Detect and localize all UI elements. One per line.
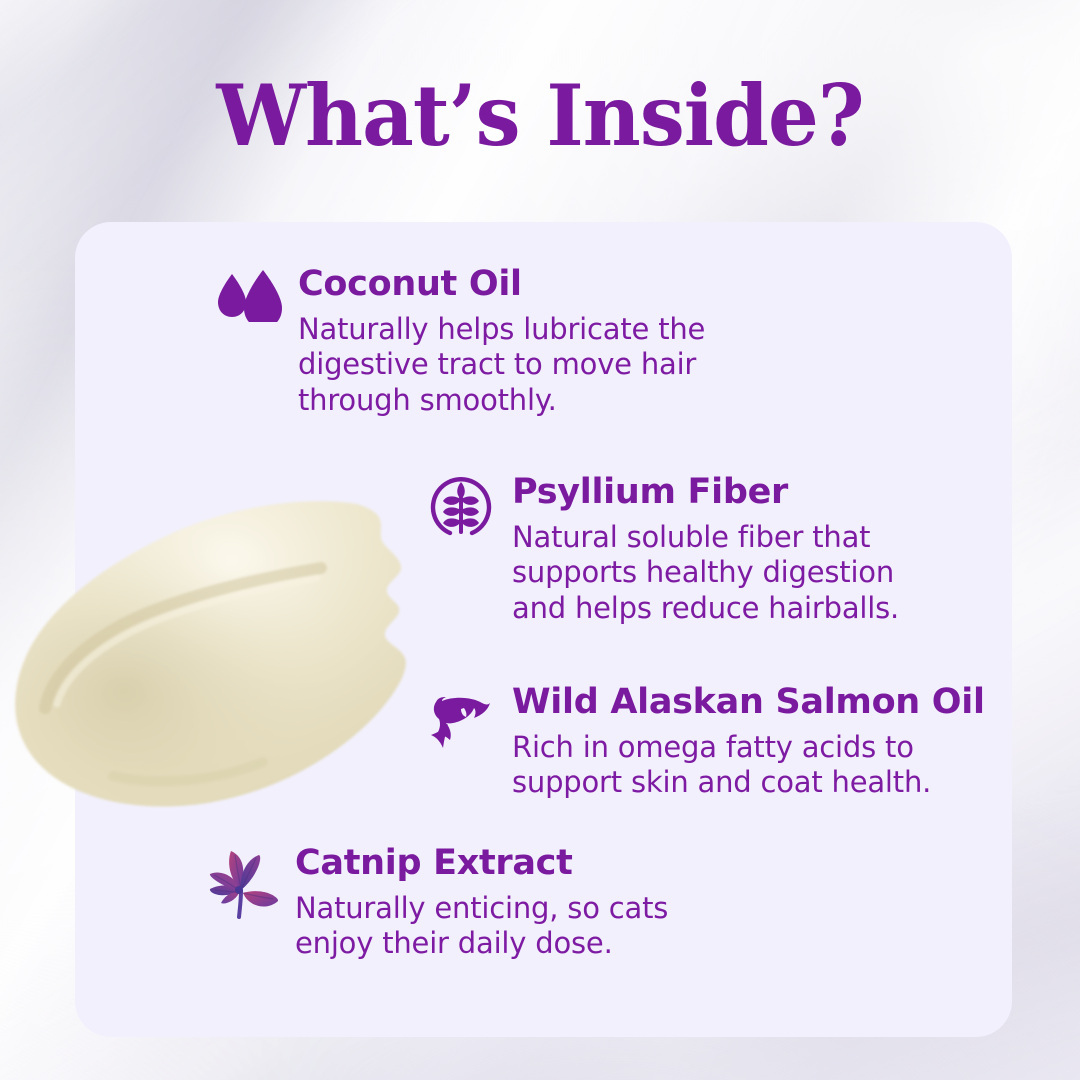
ingredient-name: Psyllium Fiber (512, 474, 899, 511)
ingredient-description: Rich in omega fatty acids to support ski… (512, 730, 985, 801)
ingredient-name: Wild Alaskan Salmon Oil (512, 684, 985, 721)
page-title: What’s Inside? (27, 74, 1053, 158)
ingredient-catnip-extract: Catnip Extract Naturally enticing, so ca… (205, 845, 668, 962)
ingredient-psyllium-fiber: Psyllium Fiber Natural soluble fiber tha… (430, 474, 899, 626)
ingredient-description: Naturally helps lubricate the digestive … (298, 312, 705, 418)
ingredient-description: Natural soluble fiber that supports heal… (512, 520, 899, 626)
ingredient-wild-alaskan-salmon-oil: Wild Alaskan Salmon Oil Rich in omega fa… (428, 684, 985, 801)
salmon-fish-icon (428, 688, 494, 750)
water-droplets-icon (212, 270, 284, 322)
ingredient-coconut-oil: Coconut Oil Naturally helps lubricate th… (212, 266, 705, 418)
wheat-stalk-in-circle-icon (430, 476, 492, 538)
ingredient-name: Catnip Extract (295, 845, 668, 882)
catnip-leaf-icon (205, 847, 283, 919)
ingredient-description: Naturally enticing, so cats enjoy their … (295, 891, 668, 962)
ingredient-name: Coconut Oil (298, 266, 705, 303)
